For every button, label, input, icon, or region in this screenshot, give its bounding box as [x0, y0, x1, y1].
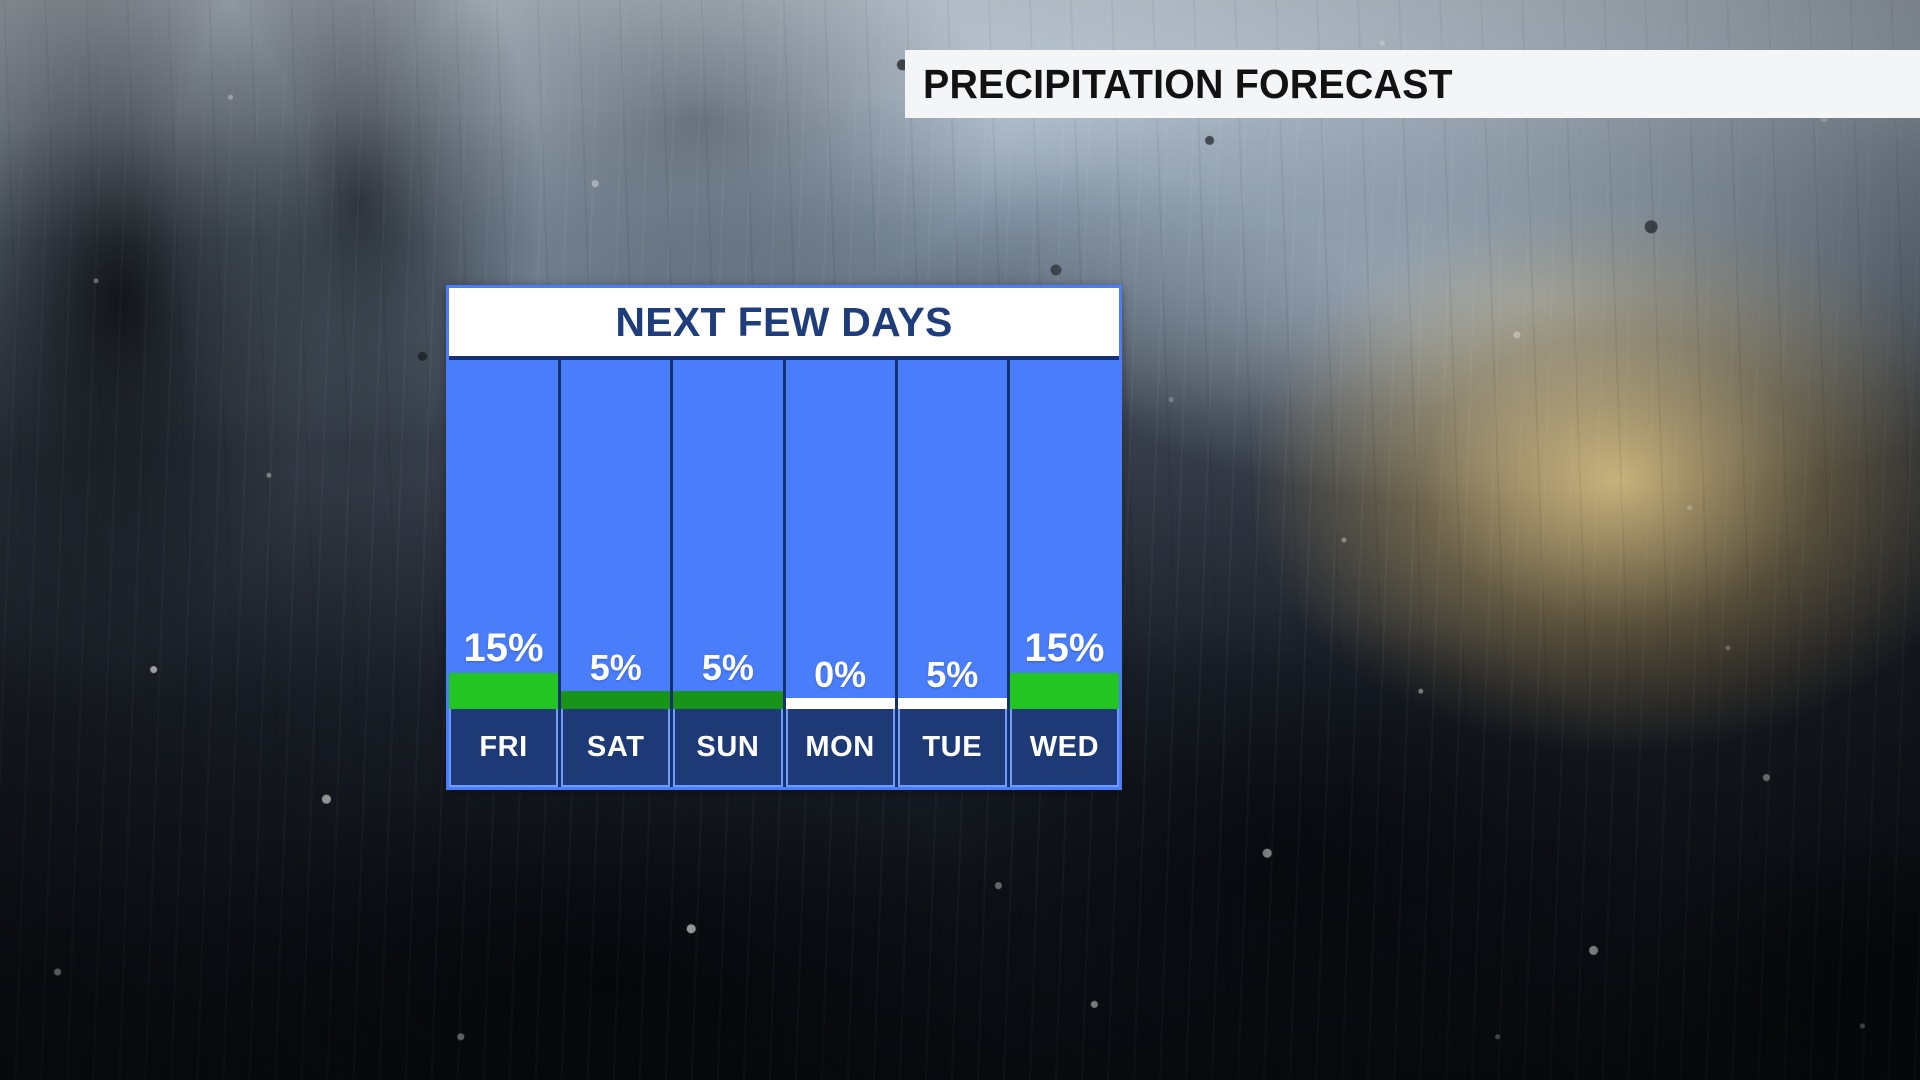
day-footer: FRI — [449, 709, 558, 787]
day-column-mon[interactable]: 0%MON — [786, 360, 895, 787]
day-label: SAT — [587, 731, 645, 764]
day-column-wed[interactable]: 15%WED — [1010, 360, 1119, 787]
day-footer: MON — [786, 709, 895, 787]
bar-area: 5% — [561, 360, 670, 709]
precip-value-bar — [561, 691, 670, 709]
precip-percent-label: 15% — [1010, 628, 1119, 673]
day-label: WED — [1030, 731, 1099, 764]
forecast-panel: NEXT FEW DAYS 15%FRI5%SAT5%SUN0%MON5%TUE… — [446, 285, 1122, 790]
headline-title: PRECIPITATION FORECAST — [923, 61, 1453, 108]
day-label: TUE — [922, 731, 982, 764]
bar-area: 5% — [673, 360, 782, 709]
day-column-tue[interactable]: 5%TUE — [898, 360, 1007, 787]
precip-value-bar — [1010, 673, 1119, 709]
day-footer: WED — [1010, 709, 1119, 787]
bar-area: 0% — [786, 360, 895, 709]
day-label: SUN — [696, 731, 759, 764]
bar-area: 15% — [1010, 360, 1119, 709]
day-column-fri[interactable]: 15%FRI — [449, 360, 558, 787]
precip-percent-label: 5% — [561, 650, 670, 691]
day-footer: TUE — [898, 709, 1007, 787]
day-column-sun[interactable]: 5%SUN — [673, 360, 782, 787]
day-column-sat[interactable]: 5%SAT — [561, 360, 670, 787]
day-footer: SUN — [673, 709, 782, 787]
headline-banner: PRECIPITATION FORECAST — [905, 50, 1920, 118]
panel-header: NEXT FEW DAYS — [449, 288, 1119, 356]
precip-value-bar — [898, 698, 1007, 709]
precip-percent-label: 15% — [449, 628, 558, 673]
precip-percent-label: 5% — [673, 650, 782, 691]
day-footer: SAT — [561, 709, 670, 787]
precip-percent-label: 0% — [786, 657, 895, 698]
bar-area: 5% — [898, 360, 1007, 709]
day-label: FRI — [479, 731, 528, 764]
precip-value-bar — [786, 698, 895, 709]
bar-area: 15% — [449, 360, 558, 709]
precip-percent-label: 5% — [898, 657, 1007, 698]
panel-title: NEXT FEW DAYS — [615, 299, 952, 346]
precip-value-bar — [449, 673, 558, 709]
precip-value-bar — [673, 691, 782, 709]
day-label: MON — [805, 731, 874, 764]
forecast-columns: 15%FRI5%SAT5%SUN0%MON5%TUE15%WED — [449, 356, 1119, 787]
